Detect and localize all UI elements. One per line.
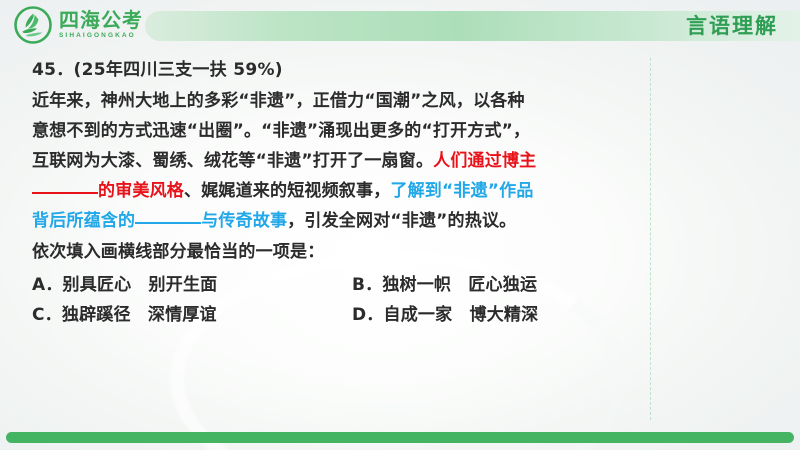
question-number-line: 45．(25年四川三支一扶 59%) <box>32 56 657 84</box>
stem-line: 背后所蕴含的与传奇故事，引发全网对“非遗”的热议。 <box>32 206 657 236</box>
stem-segment: 了解到“非遗”作品 <box>390 181 533 201</box>
leaf-circle-logo-icon <box>14 6 52 44</box>
option-b[interactable]: B．独树一帜 匠心独运 <box>352 270 537 300</box>
slide-header: 四海公考 SIHAIGONGKAO 言语理解 <box>0 0 800 52</box>
answer-blank <box>32 192 98 194</box>
stem-segment: ，引发全网对“非遗”的热议。 <box>287 211 516 231</box>
option-row-ab: A．别具匠心 别开生面 B．独树一帜 匠心独运 <box>32 270 657 300</box>
stem-segment: 互联网为大漆、蜀绣、绒花等“非遗”打开了一扇窗。 <box>32 151 433 171</box>
stem-segment: 背后所蕴含的 <box>32 211 135 231</box>
question-prompt: 依次填入画横线部分最恰当的一项是： <box>32 237 657 267</box>
slide-root: 四海公考 SIHAIGONGKAO 言语理解 45．(25年四川三支一扶 59%… <box>0 0 800 450</box>
answer-options: A．别具匠心 别开生面 B．独树一帜 匠心独运 C．独辟蹊径 深情厚谊 D．自成… <box>32 270 657 330</box>
answer-blank <box>135 222 201 224</box>
stem-line: 互联网为大漆、蜀绣、绒花等“非遗”打开了一扇窗。人们通过博主 <box>32 146 657 176</box>
brand-name-cn: 四海公考 <box>59 10 143 30</box>
stem-segment: 近年来，神州大地上的多彩“非遗”，正借力“国潮”之风，以各种 <box>32 91 525 111</box>
vertical-dashed-divider <box>650 58 651 420</box>
question-stem: 近年来，神州大地上的多彩“非遗”，正借力“国潮”之风，以各种意想不到的方式迅速“… <box>32 86 657 236</box>
stem-segment: 、娓娓道来的短视频叙事， <box>184 181 390 201</box>
option-c[interactable]: C．独辟蹊径 深情厚谊 <box>32 300 352 330</box>
stem-segment: 人们通过博主 <box>433 151 536 171</box>
option-row-cd: C．独辟蹊径 深情厚谊 D．自成一家 博大精深 <box>32 300 657 330</box>
stem-line: 近年来，神州大地上的多彩“非遗”，正借力“国潮”之风，以各种 <box>32 86 657 116</box>
option-d[interactable]: D．自成一家 博大精深 <box>352 300 538 330</box>
brand-name-en: SIHAIGONGKAO <box>59 33 143 40</box>
brand-logo: 四海公考 SIHAIGONGKAO <box>14 6 143 44</box>
section-title: 言语理解 <box>686 12 778 40</box>
question-content: 45．(25年四川三支一扶 59%) 近年来，神州大地上的多彩“非遗”，正借力“… <box>32 56 657 330</box>
bottom-green-bar <box>6 432 794 443</box>
stem-segment: 与传奇故事 <box>201 211 287 231</box>
stem-line: 意想不到的方式迅速“出圈”。“非遗”涌现出更多的“打开方式”， <box>32 116 657 146</box>
brand-logo-text: 四海公考 SIHAIGONGKAO <box>59 10 143 40</box>
stem-segment: 的审美风格 <box>98 181 184 201</box>
stem-line: 的审美风格、娓娓道来的短视频叙事，了解到“非遗”作品 <box>32 176 657 206</box>
option-a[interactable]: A．别具匠心 别开生面 <box>32 270 352 300</box>
stem-segment: 意想不到的方式迅速“出圈”。“非遗”涌现出更多的“打开方式”， <box>32 121 530 141</box>
